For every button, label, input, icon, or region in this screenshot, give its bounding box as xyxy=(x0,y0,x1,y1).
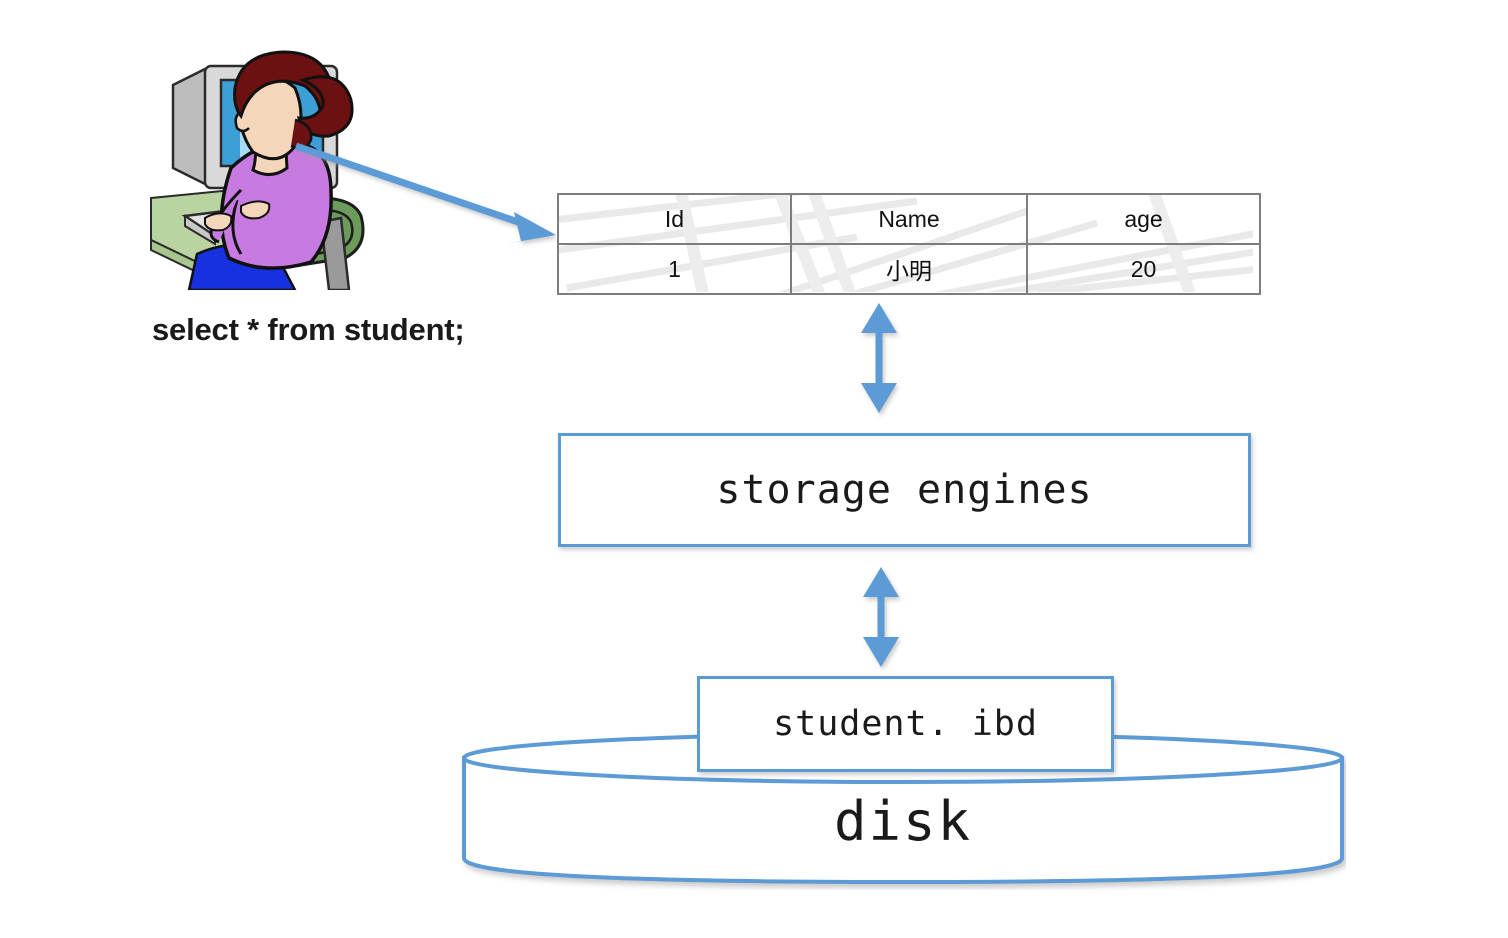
cell-id: 1 xyxy=(558,244,791,294)
cell-name: 小明 xyxy=(791,244,1027,294)
table-header-id: Id xyxy=(558,194,791,244)
student-ibd-box: student. ibd xyxy=(697,676,1114,772)
table-header-age: age xyxy=(1027,194,1260,244)
table-row: 1 小明 20 xyxy=(558,244,1260,294)
student-ibd-label: student. ibd xyxy=(773,704,1038,744)
storage-engines-box: storage engines xyxy=(558,433,1251,547)
diagram-canvas: select * from student; Id xyxy=(0,0,1508,938)
sql-query-caption: select * from student; xyxy=(152,312,465,348)
person-at-computer-clipart xyxy=(145,40,395,290)
cell-age: 20 xyxy=(1027,244,1260,294)
storage-engines-label: storage engines xyxy=(716,467,1092,513)
table-header-name: Name xyxy=(791,194,1027,244)
table-to-engine-arrow xyxy=(861,303,897,413)
engine-to-file-arrow xyxy=(863,567,899,667)
student-result-table: Id Name age 1 小明 20 xyxy=(557,193,1261,295)
table-header-row: Id Name age xyxy=(558,194,1260,244)
